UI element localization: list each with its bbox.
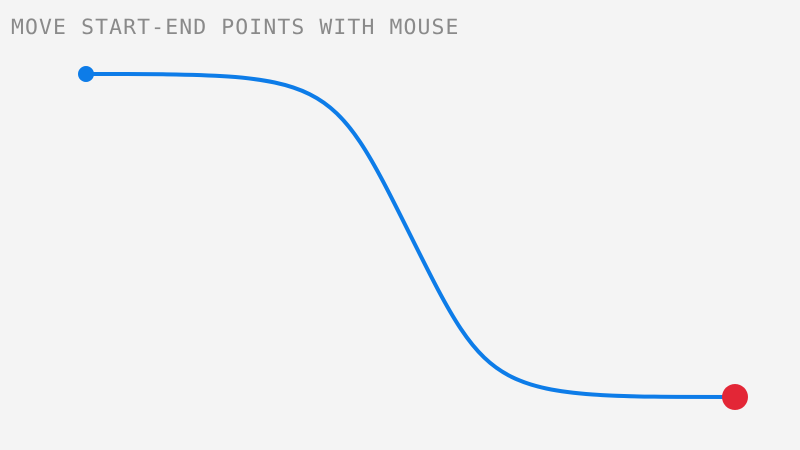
canvas-stage: MOVE START-END POINTS WITH MOUSE — [0, 0, 800, 450]
bezier-canvas[interactable] — [0, 0, 800, 450]
end-point-handle[interactable] — [722, 384, 748, 410]
start-point-handle[interactable] — [78, 66, 94, 82]
bezier-curve — [86, 74, 735, 397]
